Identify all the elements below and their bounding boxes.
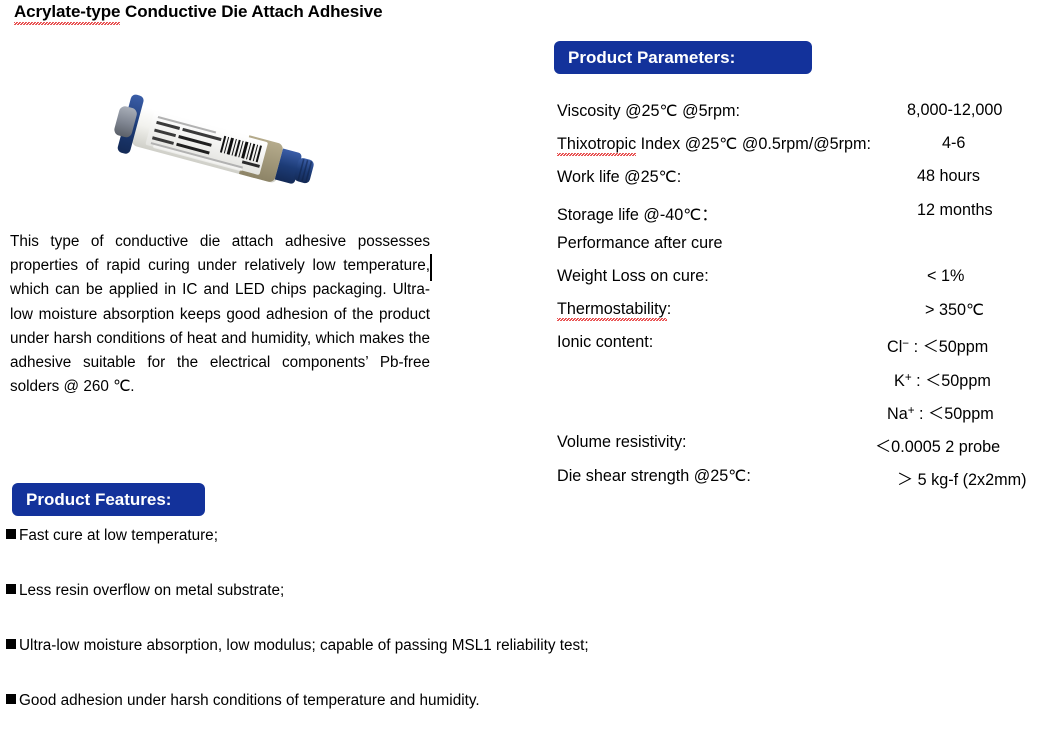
feature-item-label: Good adhesion under harsh conditions of … — [19, 692, 480, 709]
parameter-value: 4-6 — [942, 134, 965, 153]
text-insertion-caret — [430, 254, 432, 281]
ion-charge-superscript: − — [902, 337, 909, 350]
parameter-row: Weight Loss on cure:< 1% — [557, 267, 1027, 300]
parameter-value: Na+ : ＜50ppm — [887, 400, 994, 424]
parameter-label: Die shear strength @25℃: — [557, 466, 751, 486]
parameter-label-misspelled-word: Thermostability — [557, 300, 667, 319]
product-parameters-table: Viscosity @25℃ @5rpm:8,000-12,000Thixotr… — [557, 101, 1027, 499]
square-bullet-icon — [6, 584, 16, 594]
parameter-value: < 1% — [927, 267, 964, 286]
parameter-label-rest: : — [667, 300, 672, 318]
parameter-label-rest: Index @25℃ @0.5rpm/@5rpm: — [636, 135, 871, 153]
parameter-row: Thermostability:> 350℃ — [557, 300, 1027, 333]
parameter-row: Performance after cure — [557, 234, 1027, 267]
ion-charge-superscript: + — [908, 404, 915, 417]
square-bullet-icon — [6, 529, 16, 539]
parameter-value: K+ : ＜50ppm — [894, 367, 991, 391]
parameter-label: Ionic content: — [557, 333, 653, 352]
feature-item-label: Fast cure at low temperature; — [19, 527, 218, 544]
parameter-row: K+ : ＜50ppm — [557, 367, 1027, 400]
parameter-row: Storage life @-40℃：12 months — [557, 201, 1027, 234]
product-features-list: Fast cure at low temperature; Less resin… — [6, 526, 746, 746]
square-bullet-icon — [6, 694, 16, 704]
parameter-value: ＞ 5 kg-f (2x2mm) — [897, 466, 1027, 490]
parameter-value: 8,000-12,000 — [907, 101, 1002, 120]
product-features-banner: Product Features: — [12, 483, 205, 516]
square-bullet-icon — [6, 639, 16, 649]
ion-charge-superscript: + — [905, 371, 912, 384]
feature-item: Ultra-low moisture absorption, low modul… — [6, 636, 746, 691]
parameter-label: Thixotropic Index @25℃ @0.5rpm/@5rpm: — [557, 134, 871, 154]
page-title-misspelled-word: Acrylate-type — [14, 2, 120, 22]
page-title: Acrylate-type Conductive Die Attach Adhe… — [14, 2, 382, 22]
parameter-row: Viscosity @25℃ @5rpm:8,000-12,000 — [557, 101, 1027, 134]
feature-item: Less resin overflow on metal substrate; — [6, 581, 746, 636]
parameter-label: Work life @25℃: — [557, 167, 681, 187]
parameter-label: Weight Loss on cure: — [557, 267, 709, 286]
parameter-value: Cl− : ＜50ppm — [887, 333, 988, 357]
parameter-label: Thermostability: — [557, 300, 671, 319]
parameter-row: Die shear strength @25℃:＞ 5 kg-f (2x2mm) — [557, 466, 1027, 499]
feature-item: Good adhesion under harsh conditions of … — [6, 691, 746, 746]
parameter-label: Storage life @-40℃： — [557, 201, 718, 225]
parameter-value: 12 months — [917, 201, 993, 220]
product-description: This type of conductive die attach adhes… — [10, 230, 430, 399]
parameter-value: ＜0.0005 2 probe — [875, 433, 1000, 457]
parameter-row: Ionic content:Cl− : ＜50ppm — [557, 333, 1027, 366]
product-parameters-banner: Product Parameters: — [554, 41, 812, 74]
parameter-label: Volume resistivity: — [557, 433, 687, 452]
product-photo — [95, 82, 330, 212]
feature-item-label: Ultra-low moisture absorption, low modul… — [19, 637, 589, 654]
parameter-value: 48 hours — [917, 167, 980, 186]
product-features-banner-label: Product Features: — [26, 490, 171, 510]
parameter-label-misspelled-word: Thixotropic — [557, 135, 636, 154]
feature-item: Fast cure at low temperature; — [6, 526, 746, 581]
parameter-row: Thixotropic Index @25℃ @0.5rpm/@5rpm:4-6 — [557, 134, 1027, 167]
page-title-rest: Conductive Die Attach Adhesive — [120, 2, 382, 21]
parameter-row: Volume resistivity:＜0.0005 2 probe — [557, 433, 1027, 466]
parameter-value: > 350℃ — [925, 300, 984, 320]
parameter-row: Na+ : ＜50ppm — [557, 400, 1027, 433]
feature-item-label: Less resin overflow on metal substrate; — [19, 582, 284, 599]
parameter-label: Performance after cure — [557, 234, 723, 253]
parameter-label: Viscosity @25℃ @5rpm: — [557, 101, 740, 121]
product-parameters-banner-label: Product Parameters: — [568, 48, 735, 68]
parameter-row: Work life @25℃:48 hours — [557, 167, 1027, 200]
